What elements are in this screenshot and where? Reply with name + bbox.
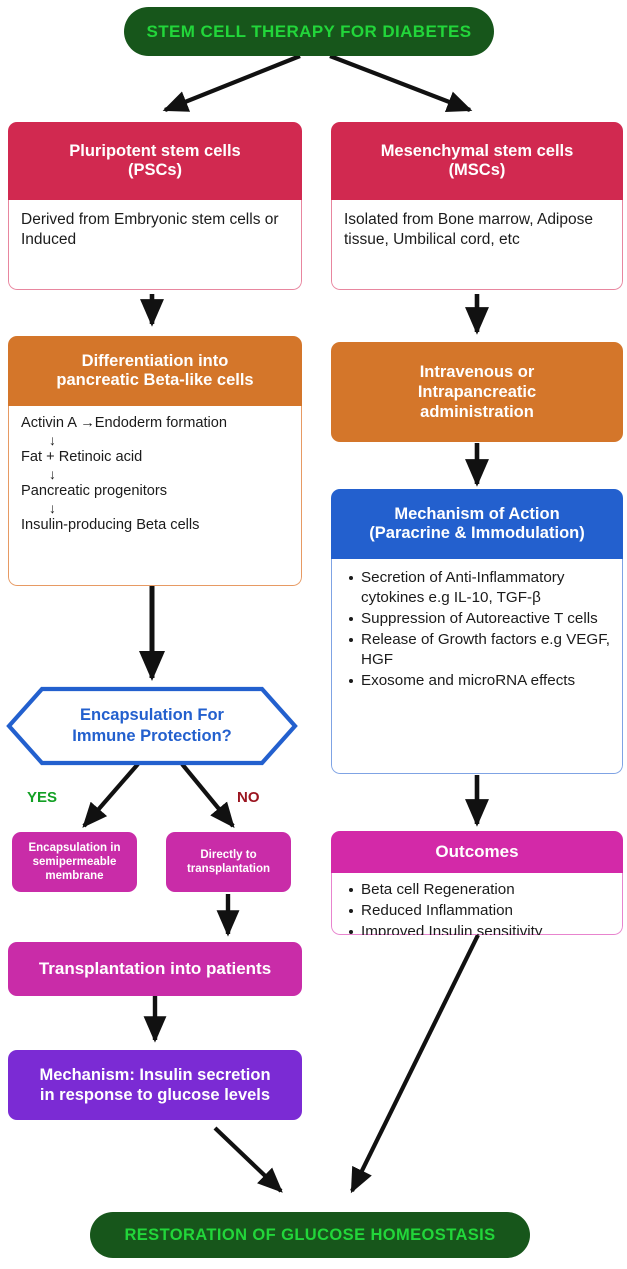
mechanism-header-line1: Mechanism of Action [394,505,559,523]
title-node-label: STEM CELL THERAPY FOR DIABETES [147,22,472,42]
edge-outcomes-to-footer [352,935,478,1191]
msc-card[interactable]: Mesenchymal stem cells (MSCs) Isolated f… [331,122,623,290]
differentiation-header-line2: pancreatic Beta-like cells [56,371,253,389]
edge-decision-no [182,764,233,826]
footer-node[interactable]: RESTORATION OF GLUCOSE HOMEOSTASIS [90,1212,530,1258]
mechanism-bullet-list: Secretion of Anti-Inflammatory cytokines… [344,568,610,691]
edge-title-to-msc [330,56,470,110]
title-node[interactable]: STEM CELL THERAPY FOR DIABETES [124,7,494,56]
msc-header-line1: Mesenchymal stem cells [381,142,574,160]
msc-card-body: Isolated from Bone marrow, Adipose tissu… [331,200,623,290]
down-arrow-icon-3: ↓ [21,501,289,516]
differentiation-card[interactable]: Differentiation into pancreatic Beta-lik… [8,336,302,586]
edge-insulin-to-footer [215,1128,281,1191]
transplantation-node[interactable]: Transplantation into patients [8,942,302,996]
psc-body-text: Derived from Embryonic stem cells or Ind… [21,211,279,248]
flowchart-canvas: STEM CELL THERAPY FOR DIABETES Pluripote… [0,0,627,1269]
insulin-mechanism-line2: in response to glucose levels [40,1086,270,1104]
encapsulation-branch-node[interactable]: Encapsulation in semipermeable membrane [12,832,137,892]
msc-header-line2: (MSCs) [449,161,506,179]
outcomes-header-label: Outcomes [435,842,518,862]
edge-decision-yes [84,764,138,826]
encapsulation-line3: membrane [45,870,103,882]
encapsulation-line2: semipermeable [33,856,117,868]
differentiation-header-line1: Differentiation into [82,352,229,370]
psc-card[interactable]: Pluripotent stem cells (PSCs) Derived fr… [8,122,302,290]
psc-card-body: Derived from Embryonic stem cells or Ind… [8,200,302,290]
msc-body-text: Isolated from Bone marrow, Adipose tissu… [344,211,593,248]
administration-node[interactable]: Intravenous or Intrapancreatic administr… [331,342,623,442]
list-item: Reduced Inflammation [361,901,610,921]
insulin-mechanism-node[interactable]: Mechanism: Insulin secretion in response… [8,1050,302,1120]
transplantation-label: Transplantation into patients [39,959,271,980]
outcomes-bullet-list: Beta cell Regeneration Reduced Inflammat… [344,880,610,935]
differentiation-step-1: Activin A →Endoderm formation [21,414,289,433]
administration-line2: Intrapancreatic [418,383,536,401]
outcomes-card-header: Outcomes [331,831,623,873]
mechanism-of-action-card[interactable]: Mechanism of Action (Paracrine & Immodul… [331,489,623,774]
differentiation-step-3: Pancreatic progenitors [21,482,289,501]
encapsulation-line1: Encapsulation in [28,842,120,854]
outcomes-card-body: Beta cell Regeneration Reduced Inflammat… [331,873,623,935]
direct-line1: Directly to [200,849,256,861]
list-item: Release of Growth factors e.g VEGF, HGF [361,630,610,670]
decision-no-label: NO [237,789,260,806]
list-item: Secretion of Anti-Inflammatory cytokines… [361,568,610,608]
mechanism-card-header: Mechanism of Action (Paracrine & Immodul… [331,489,623,559]
differentiation-step-4: Insulin-producing Beta cells [21,516,289,535]
decision-line2: Immune Protection? [72,727,232,745]
list-item: Exosome and microRNA effects [361,671,610,691]
administration-line1: Intravenous or [420,363,535,381]
psc-card-header: Pluripotent stem cells (PSCs) [8,122,302,200]
outcomes-card[interactable]: Outcomes Beta cell Regeneration Reduced … [331,831,623,935]
decision-node[interactable]: Encapsulation For Immune Protection? [6,686,298,766]
decision-line1: Encapsulation For [80,706,224,724]
mechanism-card-body: Secretion of Anti-Inflammatory cytokines… [331,559,623,774]
direct-branch-node[interactable]: Directly to transplantation [166,832,291,892]
list-item: Suppression of Autoreactive T cells [361,609,610,629]
administration-line3: administration [420,403,534,421]
down-arrow-icon-1: ↓ [21,433,289,448]
insulin-mechanism-line1: Mechanism: Insulin secretion [39,1066,270,1084]
differentiation-card-header: Differentiation into pancreatic Beta-lik… [8,336,302,406]
list-item: Beta cell Regeneration [361,880,610,900]
list-item: Improved Insulin sensitivity [361,922,610,935]
footer-node-label: RESTORATION OF GLUCOSE HOMEOSTASIS [124,1226,495,1245]
psc-header-line1: Pluripotent stem cells [69,142,240,160]
down-arrow-icon-2: ↓ [21,467,289,482]
msc-card-header: Mesenchymal stem cells (MSCs) [331,122,623,200]
decision-node-label: Encapsulation For Immune Protection? [6,686,298,766]
differentiation-card-body: Activin A →Endoderm formation ↓ Fat + Re… [8,406,302,586]
mechanism-header-line2: (Paracrine & Immodulation) [369,524,584,542]
psc-header-line2: (PSCs) [128,161,182,179]
differentiation-step-2: Fat + Retinoic acid [21,448,289,467]
direct-line2: transplantation [187,863,270,875]
decision-yes-label: YES [27,789,57,806]
edge-title-to-psc [165,56,300,110]
